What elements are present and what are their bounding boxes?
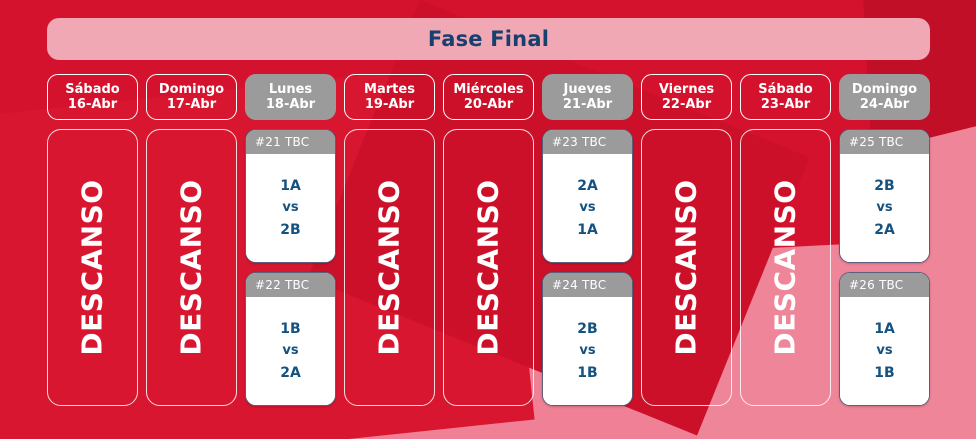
day-column-body: #25 TBC2Bvs2A#26 TBC1Avs1B [839,129,930,406]
day-header-pill[interactable]: Sábado16-Abr [47,74,138,120]
home-team: 1A [874,319,895,339]
away-team: 2A [874,220,895,240]
schedule-root: Fase Final Sábado16-AbrDESCANSODomingo17… [0,0,976,439]
day-column: Jueves21-Abr#23 TBC2Avs1A#24 TBC2Bvs1B [542,74,633,406]
day-column-body: DESCANSO [740,129,831,406]
rest-day-label: DESCANSO [670,179,703,355]
day-column-body: DESCANSO [47,129,138,406]
day-column: Viernes22-AbrDESCANSO [641,74,732,406]
rest-day-label: DESCANSO [373,179,406,355]
rest-day-label: DESCANSO [76,179,109,355]
home-team: 2B [874,176,894,196]
home-team: 2B [577,319,597,339]
rest-day-panel: DESCANSO [344,129,435,406]
day-date: 23-Abr [761,97,810,112]
away-team: 1A [577,220,598,240]
away-team: 2B [280,220,300,240]
match-card[interactable]: #26 TBC1Avs1B [839,272,930,406]
day-header-pill[interactable]: Domingo24-Abr [839,74,930,120]
day-column: Martes19-AbrDESCANSO [344,74,435,406]
page-title: Fase Final [428,27,549,51]
away-team: 1B [577,363,597,383]
versus-label: vs [282,198,298,218]
day-name: Martes [364,82,415,97]
day-date: 18-Abr [266,97,315,112]
home-team: 2A [577,176,598,196]
day-date: 24-Abr [860,97,909,112]
day-date: 17-Abr [167,97,216,112]
day-header-pill[interactable]: Domingo17-Abr [146,74,237,120]
day-date: 22-Abr [662,97,711,112]
day-header-pill[interactable]: Miércoles20-Abr [443,74,534,120]
versus-label: vs [876,198,892,218]
day-name: Jueves [564,82,612,97]
match-code: #24 TBC [543,273,632,297]
match-card[interactable]: #25 TBC2Bvs2A [839,129,930,263]
home-team: 1B [280,319,300,339]
versus-label: vs [876,341,892,361]
rest-day-panel: DESCANSO [740,129,831,406]
day-date: 16-Abr [68,97,117,112]
away-team: 1B [874,363,894,383]
rest-day-panel: DESCANSO [146,129,237,406]
day-column: Lunes18-Abr#21 TBC1Avs2B#22 TBC1Bvs2A [245,74,336,406]
match-code: #22 TBC [246,273,335,297]
day-column: Miércoles20-AbrDESCANSO [443,74,534,406]
day-column: Domingo17-AbrDESCANSO [146,74,237,406]
day-date: 21-Abr [563,97,612,112]
day-date: 20-Abr [464,97,513,112]
day-column-body: DESCANSO [443,129,534,406]
rest-day-panel: DESCANSO [47,129,138,406]
versus-label: vs [579,341,595,361]
day-column-body: DESCANSO [146,129,237,406]
day-date: 19-Abr [365,97,414,112]
match-body: 2Avs1A [543,154,632,262]
match-code: #21 TBC [246,130,335,154]
rest-day-label: DESCANSO [472,179,505,355]
versus-label: vs [579,198,595,218]
day-name: Sábado [758,82,812,97]
day-name: Sábado [65,82,119,97]
match-card[interactable]: #22 TBC1Bvs2A [245,272,336,406]
match-body: 1Avs2B [246,154,335,262]
day-name: Domingo [159,82,224,97]
day-name: Miércoles [453,82,523,97]
day-name: Viernes [659,82,714,97]
rest-day-panel: DESCANSO [443,129,534,406]
away-team: 2A [280,363,301,383]
match-card[interactable]: #23 TBC2Avs1A [542,129,633,263]
match-body: 1Avs1B [840,297,929,405]
match-body: 2Bvs2A [840,154,929,262]
day-name: Domingo [852,82,917,97]
home-team: 1A [280,176,301,196]
schedule-grid: Sábado16-AbrDESCANSODomingo17-AbrDESCANS… [47,74,930,406]
day-column-body: DESCANSO [344,129,435,406]
day-column-body: #23 TBC2Avs1A#24 TBC2Bvs1B [542,129,633,406]
day-header-pill[interactable]: Sábado23-Abr [740,74,831,120]
match-card[interactable]: #24 TBC2Bvs1B [542,272,633,406]
day-name: Lunes [269,82,312,97]
rest-day-label: DESCANSO [175,179,208,355]
match-body: 2Bvs1B [543,297,632,405]
rest-day-panel: DESCANSO [641,129,732,406]
phase-title-banner: Fase Final [47,18,930,60]
day-column-body: #21 TBC1Avs2B#22 TBC1Bvs2A [245,129,336,406]
day-column: Sábado16-AbrDESCANSO [47,74,138,406]
day-column-body: DESCANSO [641,129,732,406]
day-header-pill[interactable]: Jueves21-Abr [542,74,633,120]
day-header-pill[interactable]: Viernes22-Abr [641,74,732,120]
versus-label: vs [282,341,298,361]
match-code: #25 TBC [840,130,929,154]
match-card[interactable]: #21 TBC1Avs2B [245,129,336,263]
rest-day-label: DESCANSO [769,179,802,355]
day-column: Sábado23-AbrDESCANSO [740,74,831,406]
day-header-pill[interactable]: Martes19-Abr [344,74,435,120]
match-code: #23 TBC [543,130,632,154]
match-code: #26 TBC [840,273,929,297]
day-column: Domingo24-Abr#25 TBC2Bvs2A#26 TBC1Avs1B [839,74,930,406]
match-body: 1Bvs2A [246,297,335,405]
day-header-pill[interactable]: Lunes18-Abr [245,74,336,120]
